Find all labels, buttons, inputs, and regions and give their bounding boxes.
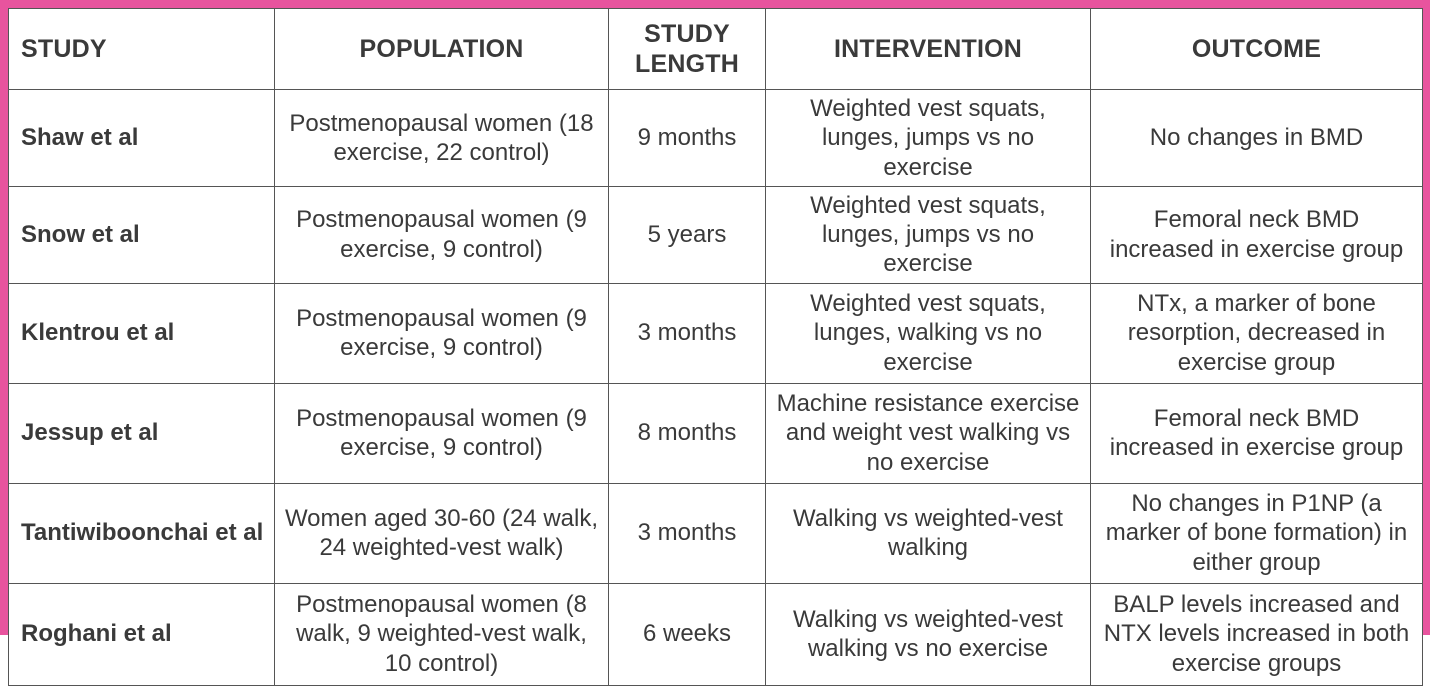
cell-study: Klentrou et al — [9, 283, 275, 383]
cell-study-length: 6 weeks — [609, 583, 766, 685]
cell-study: Tantiwiboonchai et al — [9, 483, 275, 583]
cell-outcome: Femoral neck BMD increased in exercise g… — [1091, 186, 1423, 283]
cell-intervention: Walking vs weighted-vest walking vs no e… — [766, 583, 1091, 685]
column-header-study-length-line1: STUDY — [644, 20, 730, 48]
cell-study: Roghani et al — [9, 583, 275, 685]
cell-intervention: Weighted vest squats, lunges, jumps vs n… — [766, 186, 1091, 283]
cell-population: Postmenopausal women (8 walk, 9 weighted… — [275, 583, 609, 685]
cell-study: Jessup et al — [9, 383, 275, 483]
column-header-population: POPULATION — [275, 9, 609, 90]
cell-study-length: 9 months — [609, 90, 766, 187]
table-row: Tantiwiboonchai et al Women aged 30-60 (… — [9, 483, 1423, 583]
table-header-row: STUDY POPULATION STUDY LENGTH INTERVENTI… — [9, 9, 1423, 90]
cell-study-length: 8 months — [609, 383, 766, 483]
table-row: Snow et al Postmenopausal women (9 exerc… — [9, 186, 1423, 283]
cell-intervention: Machine resistance exercise and weight v… — [766, 383, 1091, 483]
column-header-study-length: STUDY LENGTH — [609, 9, 766, 90]
cell-outcome: NTx, a marker of bone resorption, decrea… — [1091, 283, 1423, 383]
cell-population: Postmenopausal women (9 exercise, 9 cont… — [275, 283, 609, 383]
cell-outcome: No changes in BMD — [1091, 90, 1423, 187]
table-row: Roghani et al Postmenopausal women (8 wa… — [9, 583, 1423, 685]
table-body: Shaw et al Postmenopausal women (18 exer… — [9, 90, 1423, 686]
cell-population: Postmenopausal women (9 exercise, 9 cont… — [275, 186, 609, 283]
cell-population: Postmenopausal women (9 exercise, 9 cont… — [275, 383, 609, 483]
cell-intervention: Walking vs weighted-vest walking — [766, 483, 1091, 583]
column-header-outcome: OUTCOME — [1091, 9, 1423, 90]
table-row: Jessup et al Postmenopausal women (9 exe… — [9, 383, 1423, 483]
cell-outcome: BALP levels increased and NTX levels inc… — [1091, 583, 1423, 685]
cell-study: Snow et al — [9, 186, 275, 283]
cell-intervention: Weighted vest squats, lunges, walking vs… — [766, 283, 1091, 383]
cell-population: Postmenopausal women (18 exercise, 22 co… — [275, 90, 609, 187]
column-header-intervention: INTERVENTION — [766, 9, 1091, 90]
table-row: Klentrou et al Postmenopausal women (9 e… — [9, 283, 1423, 383]
table-row: Shaw et al Postmenopausal women (18 exer… — [9, 90, 1423, 187]
cell-intervention: Weighted vest squats, lunges, jumps vs n… — [766, 90, 1091, 187]
study-comparison-table: STUDY POPULATION STUDY LENGTH INTERVENTI… — [8, 8, 1423, 686]
cell-outcome: Femoral neck BMD increased in exercise g… — [1091, 383, 1423, 483]
cell-outcome: No changes in P1NP (a marker of bone for… — [1091, 483, 1423, 583]
column-header-study-length-line2: LENGTH — [635, 50, 739, 78]
cell-study: Shaw et al — [9, 90, 275, 187]
cell-study-length: 5 years — [609, 186, 766, 283]
cell-study-length: 3 months — [609, 483, 766, 583]
table-header: STUDY POPULATION STUDY LENGTH INTERVENTI… — [9, 9, 1423, 90]
column-header-study: STUDY — [9, 9, 275, 90]
cell-study-length: 3 months — [609, 283, 766, 383]
study-comparison-table-frame: STUDY POPULATION STUDY LENGTH INTERVENTI… — [0, 0, 1430, 635]
cell-population: Women aged 30-60 (24 walk, 24 weighted-v… — [275, 483, 609, 583]
